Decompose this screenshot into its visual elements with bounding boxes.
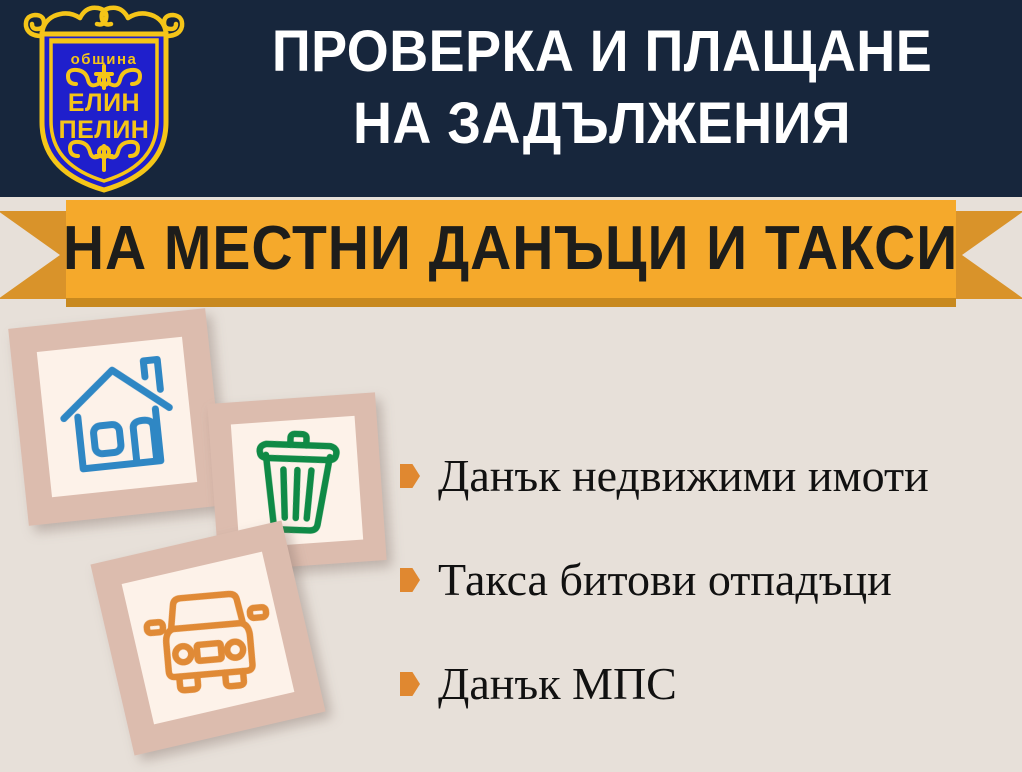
header-bar: община ЕЛИН ПЕЛИН bbox=[0, 0, 1022, 197]
poster-title: ПРОВЕРКА И ПЛАЩАНЕ НА ЗАДЪЛЖЕНИЯ bbox=[224, 16, 979, 160]
poster-title-line-1: ПРОВЕРКА И ПЛАЩАНЕ bbox=[224, 16, 979, 88]
ribbon-panel: НА МЕСТНИ ДАНЪЦИ И ТАКСИ bbox=[66, 200, 956, 298]
crest-svg: община ЕЛИН ПЕЛИН bbox=[18, 4, 190, 194]
list-item[interactable]: Данък недвижими имоти bbox=[400, 424, 1010, 528]
ribbon-shadow bbox=[66, 297, 956, 307]
municipality-crest: община ЕЛИН ПЕЛИН bbox=[18, 4, 190, 194]
stamp-house bbox=[8, 308, 226, 526]
arrow-bullet-icon bbox=[400, 568, 420, 592]
list-item[interactable]: Данък МПС bbox=[400, 632, 1010, 736]
list-item-label: Данък недвижими имоти bbox=[438, 451, 929, 501]
subtitle-ribbon: НА МЕСТНИ ДАНЪЦИ И ТАКСИ bbox=[0, 197, 1022, 305]
crest-name-line-1: ЕЛИН bbox=[68, 89, 140, 117]
list-item-label: Данък МПС bbox=[438, 659, 677, 709]
tax-type-list: Данък недвижими имоти Такса битови отпад… bbox=[400, 424, 1010, 736]
poster-canvas: община ЕЛИН ПЕЛИН bbox=[0, 0, 1022, 772]
list-item-label: Такса битови отпадъци bbox=[438, 555, 892, 605]
arrow-bullet-icon bbox=[400, 672, 420, 696]
list-item[interactable]: Такса битови отпадъци bbox=[400, 528, 1010, 632]
stamp-house-svg bbox=[8, 308, 226, 526]
poster-title-line-2: НА ЗАДЪЛЖЕНИЯ bbox=[224, 88, 979, 160]
ribbon-label: НА МЕСТНИ ДАНЪЦИ И ТАКСИ bbox=[63, 218, 958, 280]
crest-name-line-2: ПЕЛИН bbox=[59, 116, 150, 144]
arrow-bullet-icon bbox=[400, 464, 420, 488]
